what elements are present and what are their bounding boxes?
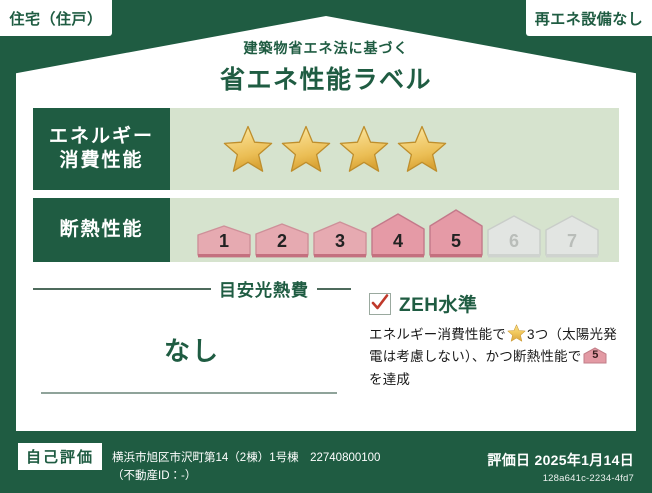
badge-renewable-energy: 再エネ設備なし	[526, 0, 652, 36]
insulation-performance-row: 断熱性能 1234567	[33, 198, 619, 262]
star-icon	[338, 124, 390, 174]
self-evaluation-badge: 自己評価	[18, 443, 102, 470]
zeh-checkbox[interactable]	[369, 293, 391, 315]
utility-cost-value: なし	[33, 331, 351, 368]
evaluation-date-block: 評価日 2025年1月14日 128a641c-2234-4fd7	[487, 440, 634, 484]
insulation-performance-label: 断熱性能	[33, 198, 170, 262]
insulation-grade-2: 2	[254, 222, 310, 258]
house-grade-number: 4	[393, 231, 403, 258]
insulation-grade-1: 1	[196, 224, 252, 258]
property-address: 横浜市旭区市沢町第14（2棟）1号棟 22740800100	[112, 450, 487, 468]
energy-performance-row: エネルギー 消費性能	[33, 108, 619, 190]
label-footer: 自己評価 横浜市旭区市沢町第14（2棟）1号棟 22740800100 （不動産…	[0, 431, 652, 493]
energy-performance-label-line1: エネルギー	[49, 125, 154, 149]
insulation-grade-icon-inline: 5	[583, 347, 607, 364]
label-body: エネルギー 消費性能 断熱性能 1234567 目安光熱費 なし	[16, 86, 636, 431]
energy-performance-label-line2: 消費性能	[59, 149, 143, 173]
house-grade-number: 2	[277, 231, 287, 258]
check-icon	[371, 294, 389, 312]
badge-dwelling-type: 住宅（住戸）	[0, 0, 112, 36]
star-icon	[280, 124, 332, 174]
zeh-title-row: ZEH水準	[369, 290, 619, 317]
evaluation-date: 評価日 2025年1月14日	[487, 450, 634, 470]
star-icon	[222, 124, 274, 174]
house-grade-number: 3	[335, 231, 345, 258]
label-uuid: 128a641c-2234-4fd7	[487, 473, 634, 484]
insulation-grade-scale: 1234567	[170, 198, 619, 262]
utility-cost-heading-text: 目安光熱費	[211, 276, 317, 301]
house-grade-number: 1	[219, 231, 229, 258]
house-grade-number: 5	[451, 231, 461, 258]
badge-dwelling-type-text: 住宅（住戸）	[9, 8, 102, 29]
energy-star-rating	[170, 108, 619, 190]
utility-cost-heading: 目安光熱費	[33, 276, 351, 301]
insulation-grade-6: 6	[486, 214, 542, 258]
zeh-column: ZEH水準 エネルギー消費性能で3つ（太陽光発電は考慮しない）、かつ断熱性能で5…	[351, 274, 619, 414]
insulation-house-strip: 1234567	[196, 202, 602, 258]
badge-renewable-energy-text: 再エネ設備なし	[535, 8, 644, 29]
star-icon-inline	[507, 324, 526, 342]
insulation-grade-5: 5	[428, 208, 484, 258]
house-grade-number: 6	[509, 231, 519, 258]
utility-cost-column: 目安光熱費 なし	[33, 274, 351, 414]
house-grade-number: 7	[567, 231, 577, 258]
lower-section: 目安光熱費 なし ZEH水準 エネルギー消費性能で3つ（太陽光発電は考慮しな	[33, 274, 619, 414]
energy-performance-label: エネルギー 消費性能	[33, 108, 170, 190]
zeh-description: エネルギー消費性能で3つ（太陽光発電は考慮しない）、かつ断熱性能で5を達成	[369, 324, 619, 391]
zeh-desc-part3: を達成	[369, 372, 410, 387]
insulation-grade-3: 3	[312, 220, 368, 258]
insulation-grade-7: 7	[544, 214, 600, 258]
insulation-grade-icon-number: 5	[583, 347, 607, 364]
insulation-performance-label-text: 断熱性能	[59, 218, 143, 242]
energy-performance-label: 住宅（住戸） 再エネ設備なし 建築物省エネ法に基づく 省エネ性能ラベル エネルギ…	[0, 0, 652, 493]
property-id: （不動産ID：-）	[112, 468, 487, 486]
utility-cost-underline	[41, 392, 337, 394]
heading-rule-right	[317, 288, 351, 290]
zeh-desc-part1: エネルギー消費性能で	[369, 327, 506, 342]
star-icon	[396, 124, 448, 174]
zeh-title: ZEH水準	[399, 290, 478, 317]
property-address-block: 横浜市旭区市沢町第14（2棟）1号棟 22740800100 （不動産ID：-）	[112, 438, 487, 486]
heading-rule-left	[33, 288, 211, 290]
insulation-grade-4: 4	[370, 212, 426, 258]
